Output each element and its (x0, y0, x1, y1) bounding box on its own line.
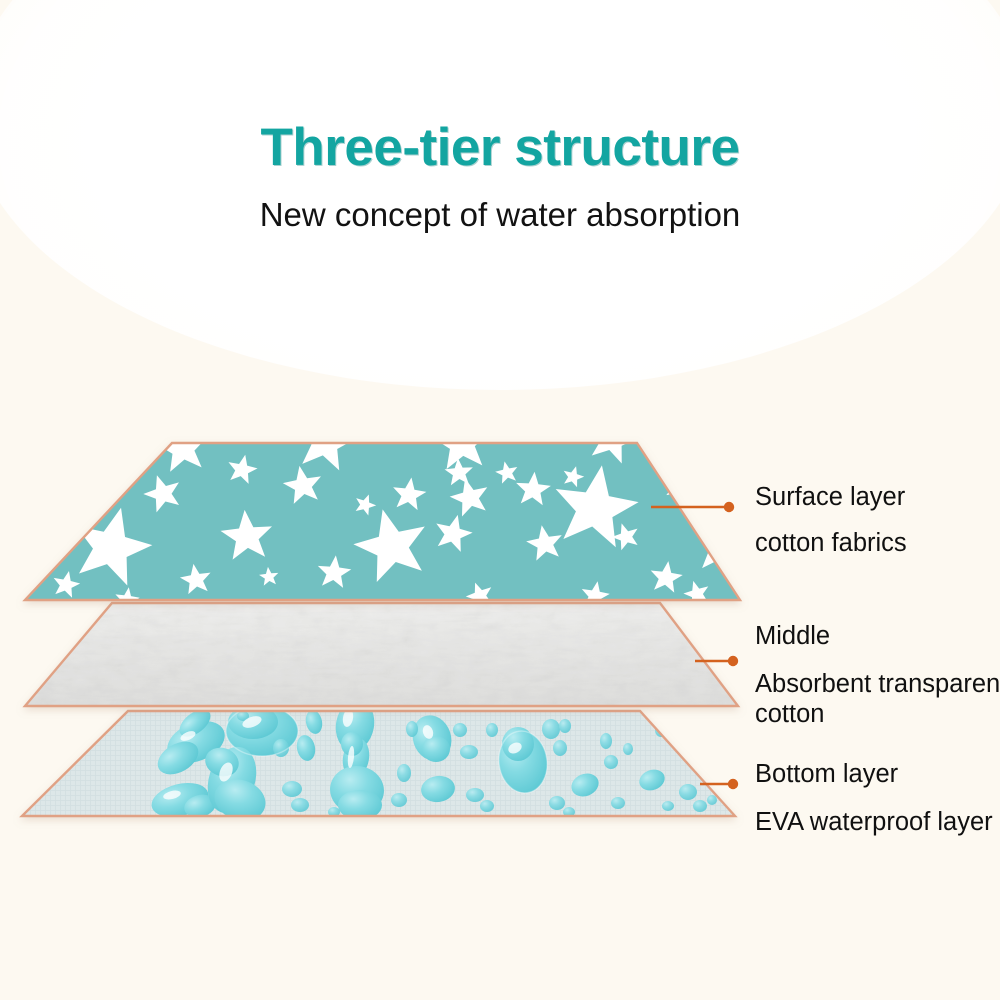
callout-middle-title: Middle (755, 622, 1000, 652)
water-droplet-pattern (20, 696, 740, 827)
callout-middle-body-line2: cotton (755, 700, 824, 728)
callout-middle-layer: Middle Absorbent transparent cotton (755, 622, 1000, 729)
callout-middle-body: Absorbent transparent (755, 670, 1000, 700)
fibrous-cotton-pattern (20, 598, 745, 710)
infographic-poster: Three-tier structure New concept of wate… (0, 0, 1000, 1000)
callout-bottom-title: Bottom layer (755, 760, 993, 790)
callout-surface-layer: Surface layer cotton fabrics (755, 483, 907, 559)
callout-surface-body: cotton fabrics (755, 529, 907, 559)
star-print-pattern (20, 407, 758, 612)
layer-shape-middle (20, 598, 745, 710)
layer-shape-bottom (20, 696, 740, 827)
callout-bottom-layer: Bottom layer EVA waterproof layer (755, 760, 993, 838)
callout-surface-title: Surface layer (755, 483, 907, 513)
layer-shape-surface (20, 407, 758, 612)
callout-bottom-body: EVA waterproof layer (755, 808, 993, 838)
